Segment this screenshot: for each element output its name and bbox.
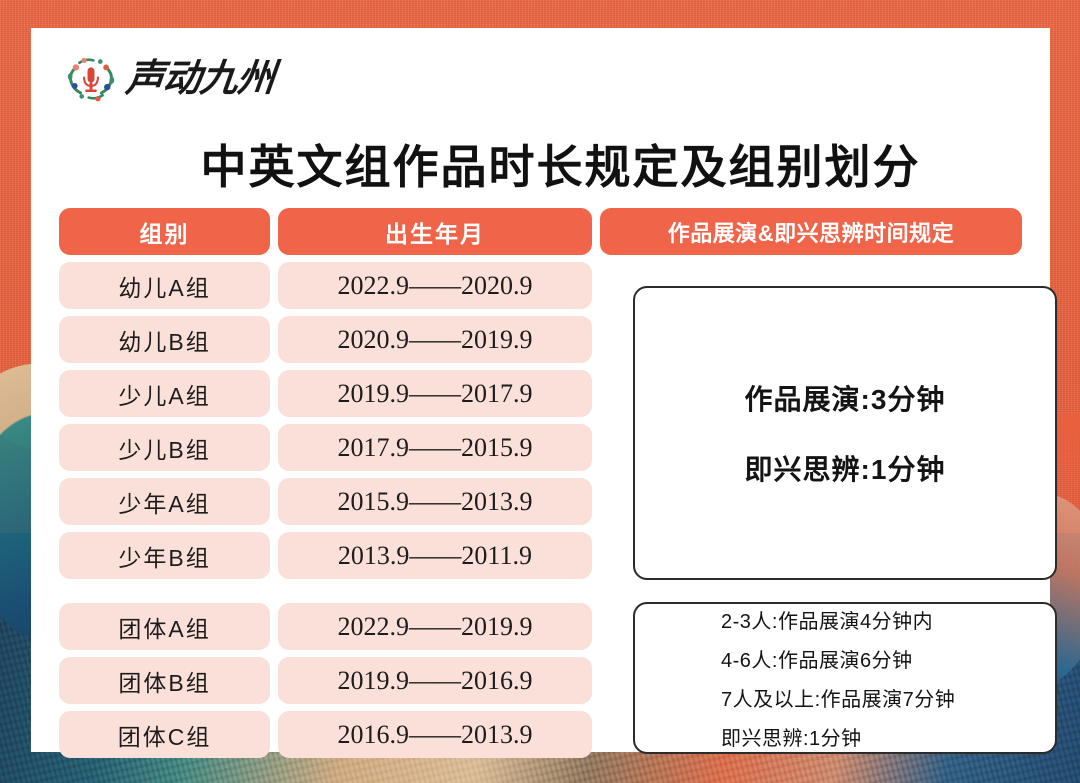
cell-birth: 2019.9——2016.9	[278, 657, 592, 704]
cell-group: 少年A组	[59, 478, 270, 525]
cell-group: 幼儿B组	[59, 316, 270, 363]
header-birth: 出生年月	[278, 208, 592, 255]
cell-group: 团体A组	[59, 603, 270, 650]
cell-group: 少儿A组	[59, 370, 270, 417]
content-card: 声动九州 中英文组作品时长规定及组别划分 组别 出生年月 作品展演&即兴思辨时间…	[31, 28, 1050, 752]
team-time-rule-box: 2-3人:作品展演4分钟内 4-6人:作品展演6分钟 7人及以上:作品展演7分钟…	[633, 602, 1057, 754]
table-header-row: 组别 出生年月 作品展演&即兴思辨时间规定	[59, 208, 1022, 255]
note-line: 2-3人:作品展演4分钟内	[721, 605, 1055, 634]
cell-group: 幼儿A组	[59, 262, 270, 309]
page-title: 中英文组作品时长规定及组别划分	[31, 140, 1050, 195]
header-rule: 作品展演&即兴思辨时间规定	[600, 208, 1022, 255]
cell-birth: 2016.9——2013.9	[278, 711, 592, 758]
poster-root: 声动九州 中英文组作品时长规定及组别划分 组别 出生年月 作品展演&即兴思辨时间…	[0, 0, 1080, 783]
cell-group: 少儿B组	[59, 424, 270, 471]
cell-birth: 2019.9——2017.9	[278, 370, 592, 417]
cell-birth: 2013.9——2011.9	[278, 532, 592, 579]
header-group: 组别	[59, 208, 270, 255]
note-line: 作品展演:3分钟	[745, 378, 946, 418]
cell-group: 少年B组	[59, 532, 270, 579]
individual-time-rule-box: 作品展演:3分钟 即兴思辨:1分钟	[633, 286, 1057, 580]
cell-group: 团体C组	[59, 711, 270, 758]
cell-birth: 2015.9——2013.9	[278, 478, 592, 525]
note-line: 7人及以上:作品展演7分钟	[721, 683, 1055, 712]
cell-birth: 2020.9——2019.9	[278, 316, 592, 363]
cell-group: 团体B组	[59, 657, 270, 704]
cell-birth: 2022.9——2019.9	[278, 603, 592, 650]
brand-wordmark: 声动九州	[124, 60, 276, 98]
note-line: 4-6人:作品展演6分钟	[721, 644, 1055, 673]
note-line: 即兴思辨:1分钟	[721, 722, 1055, 751]
note-line: 即兴思辨:1分钟	[745, 448, 946, 488]
group-rules-table: 组别 出生年月 作品展演&即兴思辨时间规定 幼儿A组 2022.9——2020.…	[59, 208, 1022, 765]
cell-birth: 2017.9——2015.9	[278, 424, 592, 471]
brand-logo: 声动九州	[62, 50, 274, 108]
microphone-floral-emblem-icon	[62, 50, 120, 108]
cell-birth: 2022.9——2020.9	[278, 262, 592, 309]
